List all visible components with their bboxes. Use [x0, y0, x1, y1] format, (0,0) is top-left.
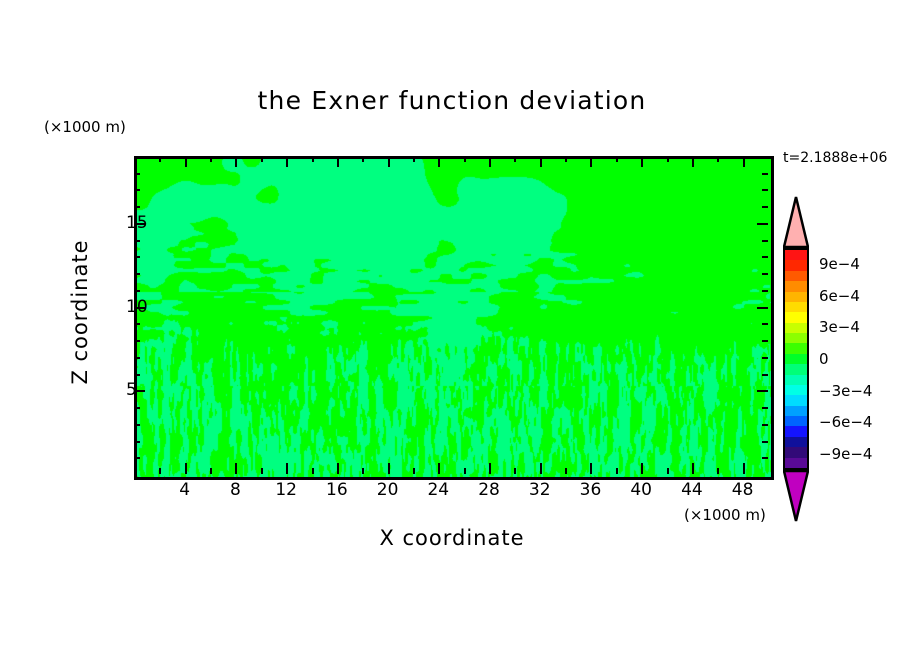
- tick-mark: [464, 156, 466, 162]
- x-tick-label: 16: [326, 480, 348, 500]
- tick-mark: [757, 223, 768, 225]
- tick-mark: [134, 441, 140, 443]
- tick-mark: [134, 240, 140, 242]
- x-tick-label: 48: [732, 480, 754, 500]
- tick-mark: [762, 357, 768, 359]
- tick-mark: [762, 240, 768, 242]
- tick-mark: [438, 156, 440, 167]
- x-axis-title: X coordinate: [0, 526, 904, 550]
- tick-mark: [762, 273, 768, 275]
- tick-mark: [337, 156, 339, 167]
- tick-mark: [388, 463, 390, 474]
- tick-mark: [590, 156, 592, 167]
- tick-mark: [514, 468, 516, 474]
- tick-mark: [413, 468, 415, 474]
- time-annotation: t=2.1888e+06: [783, 150, 887, 166]
- plot-area: [134, 156, 774, 480]
- colorbar-band: [785, 302, 807, 312]
- x-tick-label: 44: [681, 480, 703, 500]
- tick-mark: [134, 424, 140, 426]
- tick-mark: [540, 156, 542, 167]
- tick-mark: [762, 407, 768, 409]
- x-tick-label: 8: [230, 480, 241, 500]
- colorbar-band: [785, 416, 807, 426]
- tick-mark: [337, 463, 339, 474]
- colorbar-bands: [783, 248, 809, 470]
- tick-mark: [565, 468, 567, 474]
- tick-mark: [489, 463, 491, 474]
- tick-mark: [762, 441, 768, 443]
- tick-mark: [362, 156, 364, 162]
- tick-mark: [616, 468, 618, 474]
- tick-mark: [762, 290, 768, 292]
- colorbar-label: −6e−4: [819, 413, 872, 431]
- tick-mark: [362, 468, 364, 474]
- tick-mark: [762, 173, 768, 175]
- tick-mark: [159, 156, 161, 162]
- colorbar-band: [785, 292, 807, 302]
- colorbar-band: [785, 458, 807, 468]
- colorbar-label: 0: [819, 350, 829, 368]
- colorbar-band: [785, 323, 807, 333]
- colorbar-band: [785, 281, 807, 291]
- tick-mark: [134, 374, 140, 376]
- tick-mark: [134, 457, 140, 459]
- y-axis-title: Z coordinate: [68, 212, 92, 412]
- tick-mark: [641, 463, 643, 474]
- colorbar-band: [785, 406, 807, 416]
- tick-mark: [312, 156, 314, 162]
- colorbar-label: 3e−4: [819, 318, 860, 336]
- tick-mark: [762, 323, 768, 325]
- tick-mark: [464, 468, 466, 474]
- tick-mark: [667, 156, 669, 162]
- tick-mark: [134, 290, 140, 292]
- tick-mark: [235, 156, 237, 167]
- colorbar-label: −3e−4: [819, 382, 872, 400]
- tick-mark: [540, 463, 542, 474]
- tick-mark: [134, 173, 140, 175]
- tick-mark: [134, 189, 140, 191]
- colorbar-label: 6e−4: [819, 287, 860, 305]
- tick-mark: [134, 357, 140, 359]
- figure-root: the Exner function deviation (×1000 m) (…: [0, 0, 904, 654]
- tick-mark: [565, 156, 567, 162]
- colorbar-band: [785, 250, 807, 260]
- x-tick-label: 36: [580, 480, 602, 500]
- colorbar-band: [785, 312, 807, 322]
- colorbar-label: −9e−4: [819, 445, 872, 463]
- tick-mark: [667, 468, 669, 474]
- colorbar-band: [785, 343, 807, 353]
- tick-mark: [210, 156, 212, 162]
- tick-mark: [134, 323, 140, 325]
- tick-mark: [185, 463, 187, 474]
- tick-mark: [743, 156, 745, 167]
- y-axis-unit-label: (×1000 m): [44, 118, 126, 136]
- tick-mark: [134, 273, 140, 275]
- tick-mark: [286, 463, 288, 474]
- y-tick-label: 15: [126, 213, 148, 233]
- tick-mark: [438, 463, 440, 474]
- tick-mark: [134, 340, 140, 342]
- tick-mark: [185, 156, 187, 167]
- tick-mark: [235, 463, 237, 474]
- tick-mark: [261, 156, 263, 162]
- tick-mark: [134, 206, 140, 208]
- x-tick-label: 4: [179, 480, 190, 500]
- colorbar-over-arrow-icon: [783, 196, 809, 248]
- page-title: the Exner function deviation: [0, 86, 904, 115]
- tick-mark: [762, 424, 768, 426]
- tick-mark: [286, 156, 288, 167]
- tick-mark: [757, 307, 768, 309]
- tick-mark: [762, 206, 768, 208]
- tick-mark: [641, 156, 643, 167]
- colorbar-band: [785, 395, 807, 405]
- x-tick-label: 40: [630, 480, 652, 500]
- tick-mark: [489, 156, 491, 167]
- tick-mark: [757, 390, 768, 392]
- x-axis-unit-label: (×1000 m): [684, 506, 766, 524]
- colorbar-band: [785, 354, 807, 364]
- tick-mark: [616, 156, 618, 162]
- tick-mark: [388, 156, 390, 167]
- x-tick-label: 20: [377, 480, 399, 500]
- x-tick-label: 12: [275, 480, 297, 500]
- colorbar-under-arrow-icon: [783, 470, 809, 522]
- tick-mark: [134, 256, 140, 258]
- tick-mark: [312, 468, 314, 474]
- colorbar-band: [785, 333, 807, 343]
- tick-mark: [762, 457, 768, 459]
- x-tick-label: 32: [529, 480, 551, 500]
- tick-mark: [717, 156, 719, 162]
- colorbar-band: [785, 437, 807, 447]
- colorbar-band: [785, 260, 807, 270]
- colorbar-band: [785, 447, 807, 457]
- x-tick-label: 24: [427, 480, 449, 500]
- colorbar-band: [785, 385, 807, 395]
- tick-mark: [134, 407, 140, 409]
- tick-mark: [590, 463, 592, 474]
- tick-mark: [692, 156, 694, 167]
- colorbar: 9e−46e−43e−40−3e−4−6e−4−9e−4: [779, 196, 899, 526]
- tick-mark: [261, 468, 263, 474]
- tick-mark: [762, 340, 768, 342]
- tick-mark: [762, 374, 768, 376]
- y-tick-label: 5: [126, 380, 137, 400]
- tick-mark: [514, 156, 516, 162]
- colorbar-band: [785, 271, 807, 281]
- y-tick-label: 10: [126, 297, 148, 317]
- colorbar-band: [785, 375, 807, 385]
- tick-mark: [210, 468, 212, 474]
- tick-mark: [717, 468, 719, 474]
- tick-mark: [159, 468, 161, 474]
- x-tick-label: 28: [478, 480, 500, 500]
- colorbar-label: 9e−4: [819, 255, 860, 273]
- colorbar-band: [785, 426, 807, 436]
- tick-mark: [413, 156, 415, 162]
- tick-mark: [692, 463, 694, 474]
- tick-mark: [762, 256, 768, 258]
- tick-mark: [762, 189, 768, 191]
- tick-mark: [743, 463, 745, 474]
- colorbar-band: [785, 364, 807, 374]
- contour-field-canvas: [137, 159, 771, 477]
